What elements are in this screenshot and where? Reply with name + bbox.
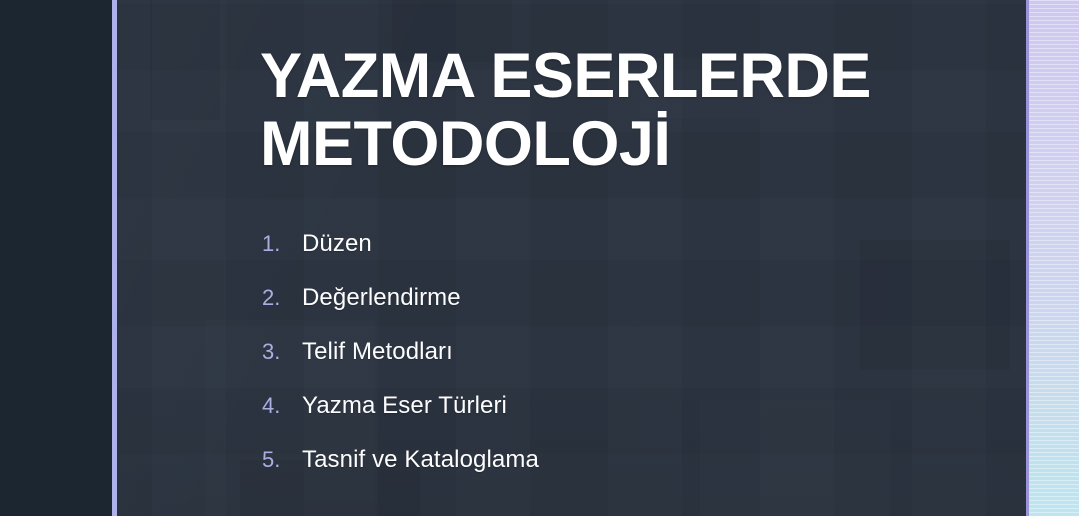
list-item-label: Tasnif ve Kataloglama (302, 446, 539, 474)
list-item: 3. Telif Metodları (262, 338, 962, 392)
list-item-label: Değerlendirme (302, 284, 461, 312)
list-item-number: 2. (262, 285, 302, 311)
list-item-number: 1. (262, 231, 302, 257)
list-item: 4. Yazma Eser Türleri (262, 392, 962, 446)
list-item-label: Telif Metodları (302, 338, 453, 366)
list-item-label: Yazma Eser Türleri (302, 392, 507, 420)
list-item-number: 5. (262, 447, 302, 473)
page-title: YAZMA ESERLERDE METODOLOJİ (260, 42, 950, 178)
presentation-slide: YAZMA ESERLERDE METODOLOJİ 1. Düzen 2. D… (0, 0, 1079, 516)
list-item: 2. Değerlendirme (262, 284, 962, 338)
list-item-label: Düzen (302, 230, 372, 258)
list-item-number: 4. (262, 393, 302, 419)
list-item-number: 3. (262, 339, 302, 365)
list-item: 1. Düzen (262, 230, 962, 284)
list-item: 5. Tasnif ve Kataloglama (262, 446, 962, 500)
slide-content: YAZMA ESERLERDE METODOLOJİ 1. Düzen 2. D… (0, 0, 1079, 516)
agenda-list: 1. Düzen 2. Değerlendirme 3. Telif Metod… (262, 230, 962, 500)
